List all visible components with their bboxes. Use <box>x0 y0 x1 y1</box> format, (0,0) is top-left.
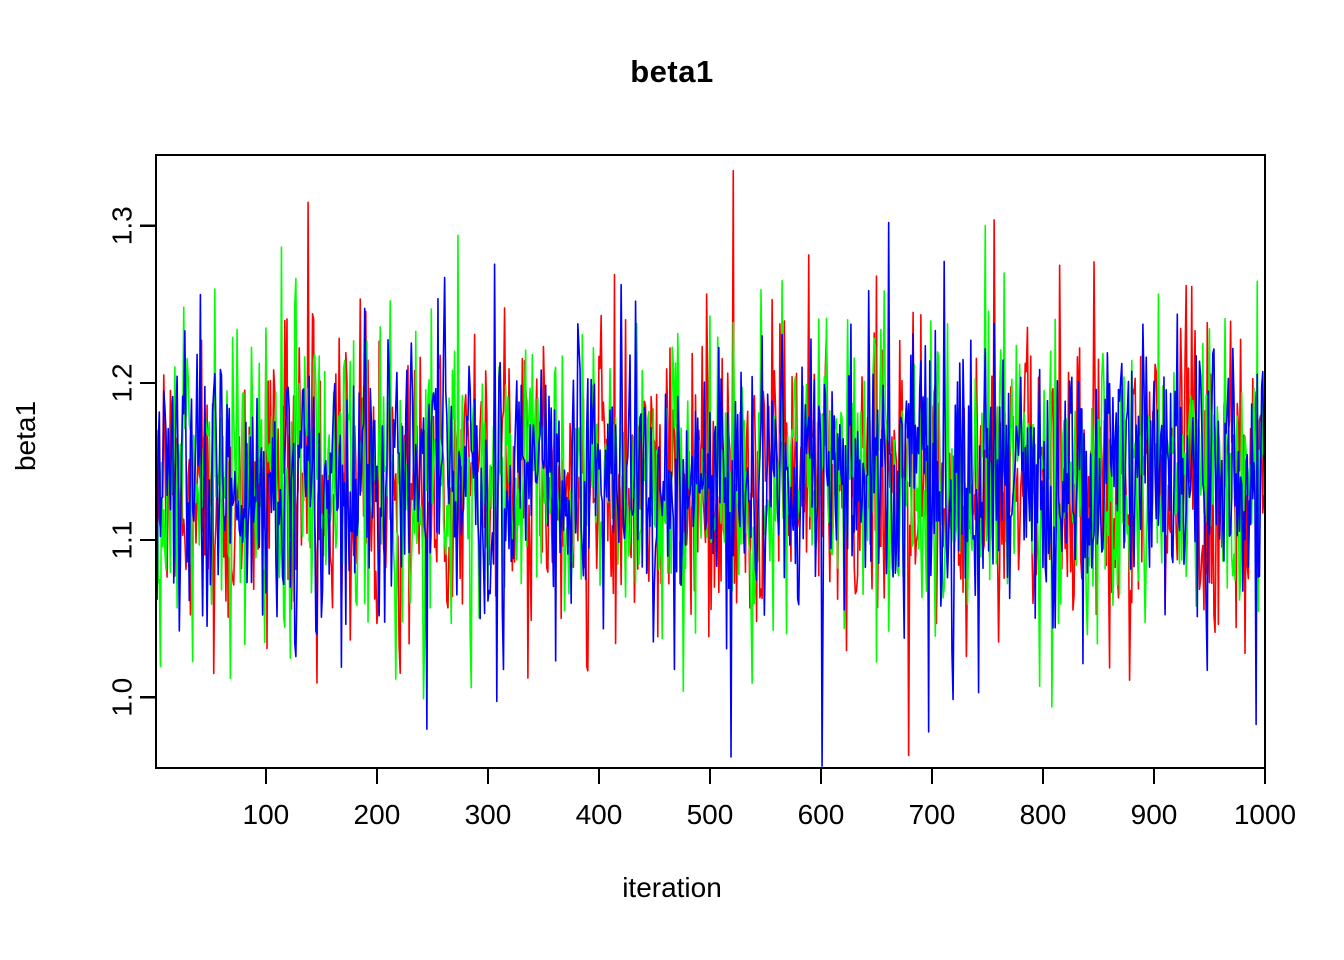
x-axis-ticks <box>266 768 1265 784</box>
trace-plot-figure: beta1 1002003004005006007008009001000 1.… <box>0 0 1344 960</box>
y-axis-tick-labels: 1.01.11.21.3 <box>107 206 138 716</box>
y-tick-label: 1.3 <box>107 206 138 245</box>
x-tick-label: 100 <box>243 799 290 830</box>
x-tick-label: 900 <box>1131 799 1178 830</box>
x-tick-label: 200 <box>354 799 401 830</box>
x-axis-label: iteration <box>0 872 1344 904</box>
x-axis-tick-labels: 1002003004005006007008009001000 <box>243 799 1297 830</box>
y-tick-label: 1.0 <box>107 678 138 717</box>
x-tick-label: 600 <box>798 799 845 830</box>
x-tick-label: 1000 <box>1234 799 1296 830</box>
y-axis-label: beta1 <box>10 366 42 506</box>
x-tick-label: 500 <box>687 799 734 830</box>
y-tick-label: 1.2 <box>107 363 138 402</box>
y-tick-label: 1.1 <box>107 521 138 560</box>
plot-canvas: 1002003004005006007008009001000 1.01.11.… <box>0 0 1344 960</box>
x-tick-label: 800 <box>1020 799 1067 830</box>
y-axis-ticks <box>140 226 156 698</box>
x-tick-label: 700 <box>909 799 956 830</box>
x-tick-label: 300 <box>465 799 512 830</box>
x-tick-label: 400 <box>576 799 623 830</box>
trace-lines-group <box>156 171 1265 766</box>
